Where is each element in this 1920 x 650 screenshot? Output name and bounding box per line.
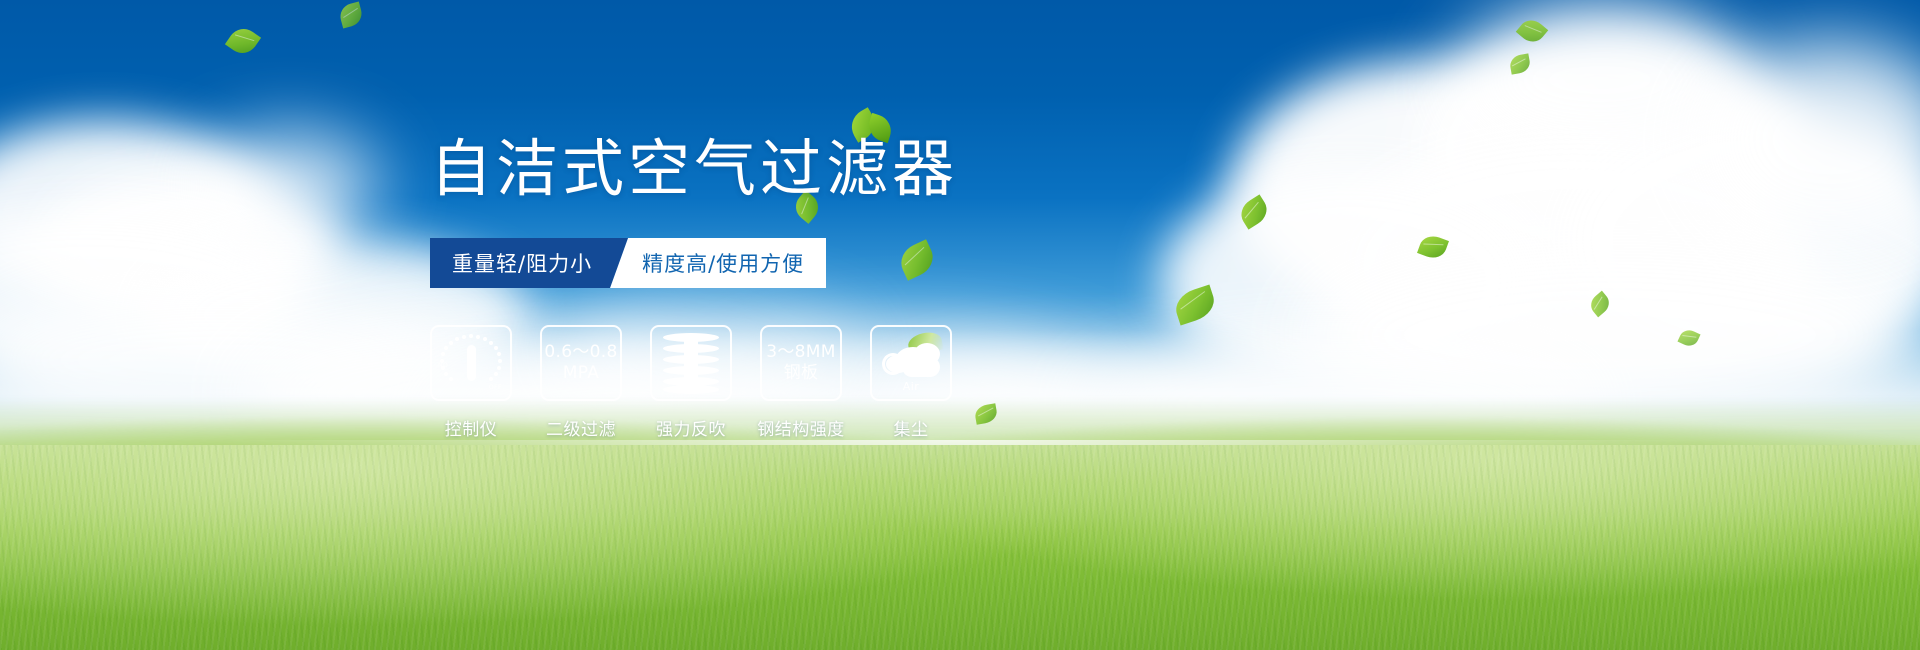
feature-icon-box: NO OFF (430, 325, 512, 401)
feature-icon-box: 3～8MM 钢板 (760, 325, 842, 401)
feature-item-steel[interactable]: 3～8MM 钢板 钢结构强度 (760, 325, 842, 440)
feature-label: 强力反吹 (656, 415, 726, 440)
feature-label: 集尘 (894, 415, 929, 440)
tag-group: 重量轻/阻力小 精度高/使用方便 (430, 238, 826, 288)
air-swirl-icon (882, 353, 904, 375)
air-label: Air (880, 380, 942, 393)
gauge-label-off: OFF (489, 384, 502, 391)
gauge-icon: NO OFF (440, 334, 502, 392)
steel-thickness: 3～8MM (766, 342, 835, 363)
hero-banner: 自洁式空气过滤器 重量轻/阻力小 精度高/使用方便 (0, 0, 1920, 650)
pressure-text-icon: 0.6～0.8 MPA (544, 342, 617, 385)
tag-primary: 重量轻/阻力小 (430, 238, 628, 288)
pressure-unit: MPA (544, 363, 617, 384)
feature-label: 二级过滤 (546, 415, 616, 440)
gauge-needle (467, 345, 476, 381)
feature-item-dust[interactable]: Air 集尘 (870, 325, 952, 440)
feature-icon-box: 0.6～0.8 MPA (540, 325, 622, 401)
banner-content: 自洁式空气过滤器 重量轻/阻力小 精度高/使用方便 (0, 0, 1920, 650)
feature-list: NO OFF 控制仪 0.6～0.8 MPA 二级过滤 (430, 325, 952, 440)
cloud-air-icon: Air (880, 335, 942, 391)
steel-material: 钢板 (766, 363, 835, 384)
pressure-range: 0.6～0.8 (544, 342, 617, 363)
feature-label: 钢结构强度 (757, 415, 845, 440)
feature-icon-box (650, 325, 732, 401)
feature-item-filtration[interactable]: 0.6～0.8 MPA 二级过滤 (540, 325, 622, 440)
feature-icon-box: Air (870, 325, 952, 401)
feature-label: 控制仪 (445, 415, 498, 440)
gauge-label-no: NO (438, 362, 448, 369)
steel-text-icon: 3～8MM 钢板 (766, 342, 835, 385)
filter-stack-icon (663, 333, 719, 393)
page-title: 自洁式空气过滤器 (430, 138, 958, 200)
tag-secondary: 精度高/使用方便 (610, 238, 826, 288)
feature-item-controller[interactable]: NO OFF 控制仪 (430, 325, 512, 440)
feature-item-backblow[interactable]: 强力反吹 (650, 325, 732, 440)
